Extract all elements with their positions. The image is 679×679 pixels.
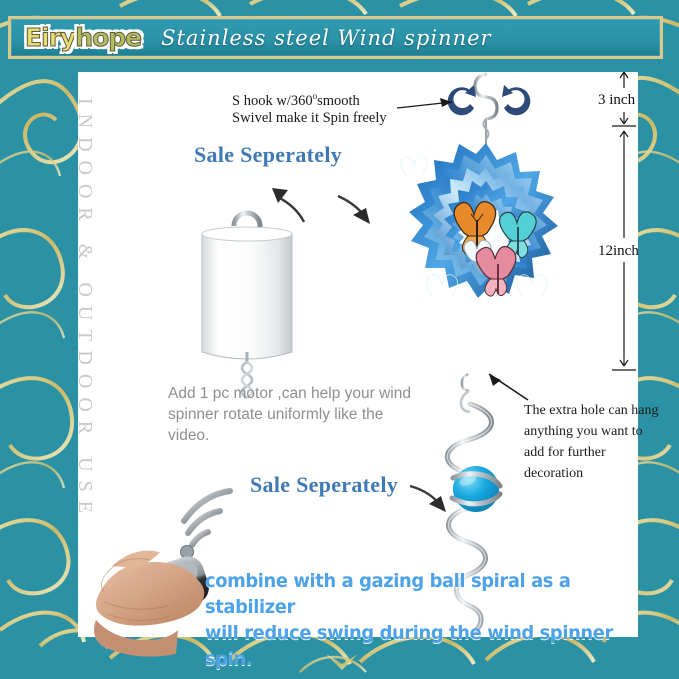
extra-hole-description: The extra hole can hang anything you wan… [524,400,664,484]
brand-banner: Eiryhope Stainless steel Wind spinner [8,16,663,59]
s-hook-line2: Swivel make it Spin freely [232,110,387,126]
bottom-headline: combine with a gazing ball spiral as a s… [205,568,619,672]
s-hook-line1b: smooth [317,93,360,109]
s-hook-line1: S hook w/360 [232,93,313,109]
s-hook-annotation: S hook w/360osmooth Swivel make it Spin … [232,88,472,127]
motor-description: Add 1 pc motor ,can help your wind spinn… [168,383,418,446]
brand-logo-part2: hope [75,23,141,52]
content-card [78,72,638,637]
banner-title: Stainless steel Wind spinner [161,26,491,50]
dimension-label-hook: 3 inch [598,92,635,109]
product-infographic: Eiryhope Stainless steel Wind spinner IN… [0,0,679,679]
brand-logo: Eiryhope [19,22,147,53]
bottom-headline-line1: combine with a gazing ball spiral as a s… [205,568,619,620]
vertical-indoor-outdoor-label: INDOOR & OUTDOOR USE [66,98,96,534]
sale-separately-top-label: Sale Seperately [194,142,342,168]
bottom-headline-line2: will reduce swing during the wind spinne… [205,620,619,672]
sale-separately-bottom-label: Sale Seperately [250,472,398,498]
brand-logo-part1: Eiry [25,23,75,52]
dimension-label-spinner: 12inch [598,243,639,260]
